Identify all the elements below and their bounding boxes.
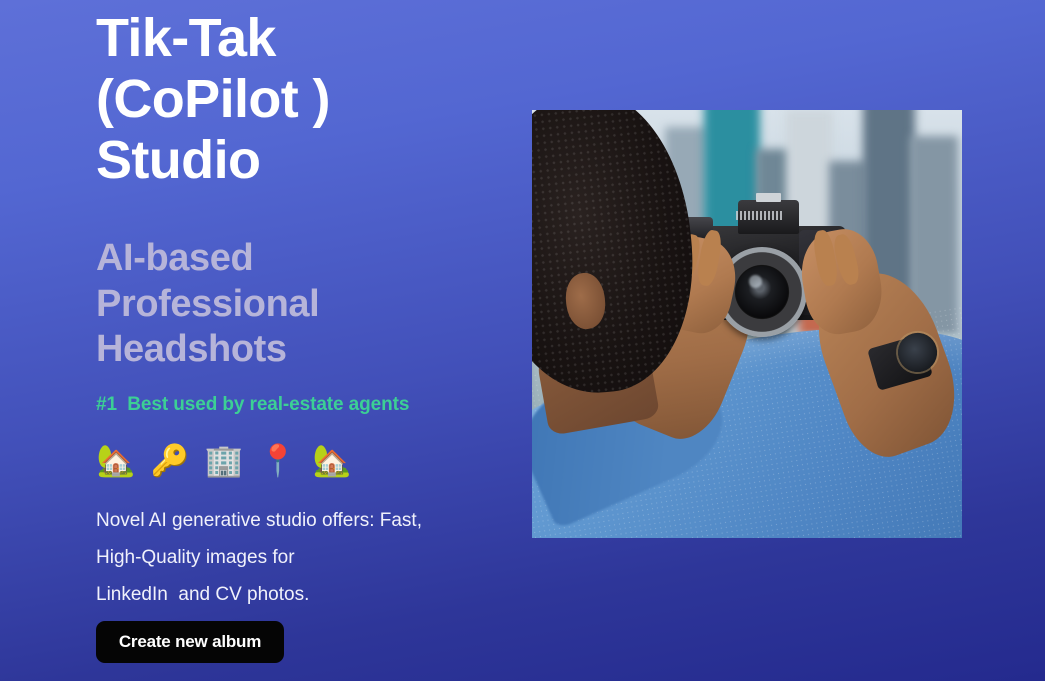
camera-lens-highlight <box>749 275 762 288</box>
hero-description-line-2: High-Quality images for <box>96 539 516 576</box>
page-subtitle: AI-based Professional Headshots <box>96 236 516 373</box>
photo-canvas <box>532 110 962 538</box>
house-with-garden-icon-2: 🏡 <box>314 443 350 479</box>
hero-description: Novel AI generative studio offers: Fast,… <box>96 502 516 613</box>
page-title-line-3: Studio <box>96 130 516 191</box>
emoji-icon-row: 🏡 🔑 🏢 📍 🏡 <box>98 443 350 479</box>
hero-description-line-3: LinkedIn and CV photos. <box>96 576 516 613</box>
page-subtitle-line-2: Professional <box>96 282 516 328</box>
page-title: Tik-Tak (CoPilot ) Studio <box>96 8 516 191</box>
camera-brand-text <box>736 211 783 220</box>
house-with-garden-icon: 🏡 <box>98 443 134 479</box>
create-new-album-button[interactable]: Create new album <box>96 621 284 663</box>
status-badge: #1 Best used by real-estate agents <box>96 394 409 416</box>
office-building-icon: 🏢 <box>206 443 242 479</box>
camera-lens-element <box>736 266 788 317</box>
hero-photo <box>532 110 962 538</box>
round-pushpin-icon: 📍 <box>260 443 296 479</box>
hero-page: Tik-Tak (CoPilot ) Studio AI-based Profe… <box>0 0 1045 681</box>
hero-description-line-1: Novel AI generative studio offers: Fast, <box>96 502 516 539</box>
hero-left-column: Tik-Tak (CoPilot ) Studio AI-based Profe… <box>96 0 516 681</box>
camera-hotshoe <box>756 193 782 202</box>
key-icon: 🔑 <box>152 443 188 479</box>
page-subtitle-line-1: AI-based <box>96 236 516 282</box>
page-subtitle-line-3: Headshots <box>96 327 516 373</box>
page-title-line-1: Tik-Tak <box>96 8 516 69</box>
page-title-line-2: (CoPilot ) <box>96 69 516 130</box>
